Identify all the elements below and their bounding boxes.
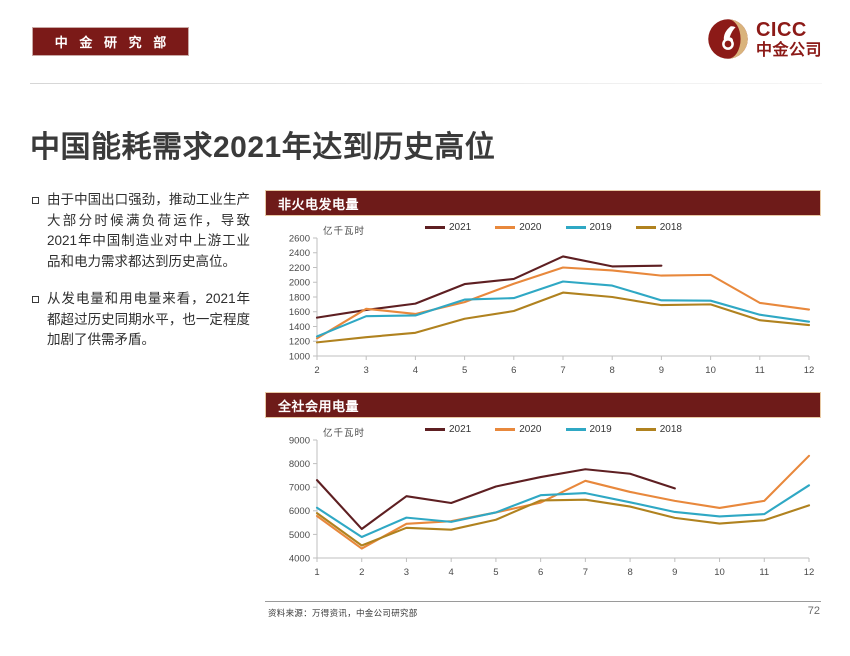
bullet-text: 从发电量和用电量来看，2021年都超过历史同期水平，也一定程度加剧了供需矛盾。 [47, 289, 250, 351]
x-axis-tick-label: 5 [462, 365, 467, 376]
bullet-text: 由于中国出口强劲，推动工业生产大部分时候满负荷运作，导致2021年中国制造业对中… [47, 190, 250, 272]
square-bullet-icon [32, 296, 39, 303]
logo-text-cn: 中金公司 [756, 43, 822, 59]
x-axis-tick-label: 3 [404, 567, 409, 578]
list-item: 从发电量和用电量来看，2021年都超过历史同期水平，也一定程度加剧了供需矛盾。 [32, 289, 250, 351]
x-axis-tick-label: 4 [449, 567, 454, 578]
x-axis-tick-label: 11 [755, 365, 765, 376]
chart-body: 亿千瓦时 2021202020192018 100012001400160018… [265, 216, 821, 390]
y-axis-tick-label: 1800 [289, 292, 310, 303]
header-divider [30, 83, 822, 84]
chart-panel-nonthermal-generation: 非火电发电量 亿千瓦时 2021202020192018 10001200140… [265, 190, 821, 390]
x-axis-tick-label: 3 [364, 365, 369, 376]
y-axis-tick-label: 4000 [289, 553, 310, 564]
y-axis-tick-label: 7000 [289, 483, 310, 494]
series-line-2018 [317, 293, 809, 343]
chart-header-bar: 全社会用电量 [265, 392, 821, 418]
x-axis-tick-label: 8 [610, 365, 615, 376]
chart-title: 非火电发电量 [278, 194, 359, 213]
y-axis-tick-label: 1000 [289, 351, 310, 362]
x-axis-tick-label: 12 [804, 365, 815, 376]
chart-panel-total-electricity-consumption: 全社会用电量 亿千瓦时 2021202020192018 40005000600… [265, 392, 821, 592]
x-axis-tick-label: 7 [560, 365, 565, 376]
x-axis-tick-label: 7 [583, 567, 588, 578]
bullet-list: 由于中国出口强劲，推动工业生产大部分时候满负荷运作，导致2021年中国制造业对中… [32, 190, 250, 368]
y-axis-tick-label: 9000 [289, 435, 310, 446]
slide-root: 中 金 研 究 部 CICC 中金公司 中国能耗需求2021年达到历史高位 由于… [0, 0, 850, 656]
y-axis-tick-label: 2400 [289, 248, 310, 259]
department-badge: 中 金 研 究 部 [32, 27, 189, 56]
cicc-swirl-icon [707, 18, 749, 60]
y-axis-tick-label: 1400 [289, 322, 310, 333]
x-axis-tick-label: 9 [672, 567, 677, 578]
x-axis-tick-label: 2 [359, 567, 364, 578]
x-axis-tick-label: 2 [314, 365, 319, 376]
list-item: 由于中国出口强劲，推动工业生产大部分时候满负荷运作，导致2021年中国制造业对中… [32, 190, 250, 272]
y-axis-tick-label: 1600 [289, 307, 310, 318]
chart-plot-area: 1000120014001600180020002200240026002345… [265, 216, 821, 390]
y-axis-tick-label: 5000 [289, 530, 310, 541]
footer-divider [265, 601, 821, 602]
x-axis-tick-label: 9 [659, 365, 664, 376]
chart-plot-area: 400050006000700080009000123456789101112 [265, 418, 821, 592]
logo-text-en: CICC [756, 20, 822, 40]
page-title: 中国能耗需求2021年达到历史高位 [30, 122, 495, 166]
y-axis-tick-label: 2000 [289, 278, 310, 289]
series-line-2020 [317, 268, 809, 339]
x-axis-tick-label: 10 [705, 365, 716, 376]
series-line-2019 [317, 485, 809, 537]
chart-title: 全社会用电量 [278, 396, 359, 415]
cicc-logo: CICC 中金公司 [707, 18, 822, 60]
x-axis-tick-label: 4 [413, 365, 418, 376]
department-badge-label: 中 金 研 究 部 [51, 32, 170, 51]
x-axis-tick-label: 5 [493, 567, 498, 578]
square-bullet-icon [32, 197, 39, 204]
y-axis-tick-label: 8000 [289, 459, 310, 470]
y-axis-tick-label: 6000 [289, 506, 310, 517]
source-note: 资料来源：万得资讯，中金公司研究部 [268, 607, 418, 619]
x-axis-tick-label: 6 [538, 567, 543, 578]
chart-header-bar: 非火电发电量 [265, 190, 821, 216]
y-axis-tick-label: 1200 [289, 337, 310, 348]
y-axis-tick-label: 2600 [289, 233, 310, 244]
page-number: 72 [808, 605, 820, 617]
y-axis-tick-label: 2200 [289, 263, 310, 274]
x-axis-tick-label: 12 [804, 567, 815, 578]
x-axis-tick-label: 10 [714, 567, 725, 578]
x-axis-tick-label: 11 [759, 567, 769, 578]
x-axis-tick-label: 1 [314, 567, 319, 578]
chart-body: 亿千瓦时 2021202020192018 400050006000700080… [265, 418, 821, 592]
x-axis-tick-label: 6 [511, 365, 516, 376]
x-axis-tick-label: 8 [627, 567, 632, 578]
